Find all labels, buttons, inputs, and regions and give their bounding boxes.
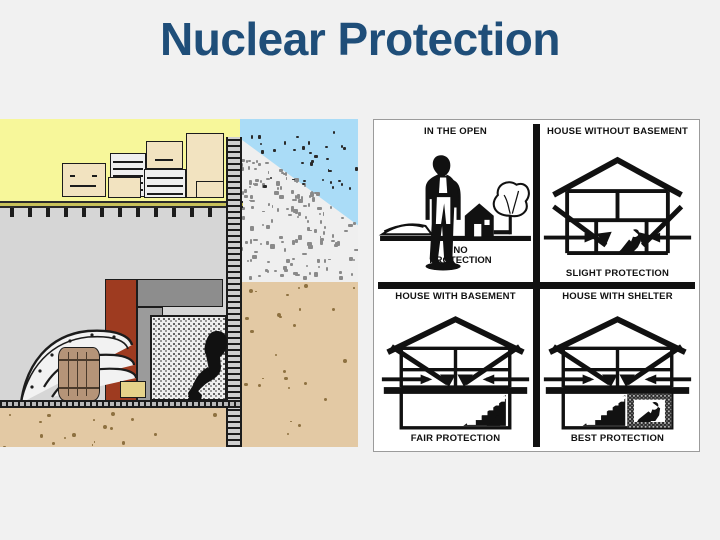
fallout-particle — [284, 141, 286, 145]
fallout-particle — [328, 170, 331, 172]
floor-joist — [208, 208, 212, 217]
gravel-speck — [295, 212, 299, 214]
gravel-speck — [267, 261, 270, 263]
gravel-speck — [320, 240, 322, 244]
gravel-speck — [253, 239, 257, 241]
floor-joist — [28, 208, 32, 217]
gravel-speck — [250, 195, 253, 199]
gravel-speck — [242, 216, 246, 220]
gravel-speck — [286, 259, 290, 263]
gravel-speck — [341, 217, 344, 219]
soil-speck — [299, 308, 301, 310]
cabinet-detail-line — [70, 175, 75, 177]
soil-speck — [332, 308, 335, 311]
gravel-speck — [339, 276, 343, 280]
fallout-particle — [343, 147, 346, 150]
gravel-speck — [291, 190, 294, 194]
gravel-speck — [254, 251, 258, 253]
gravel-speck — [314, 272, 318, 276]
panel-divider-vertical-bottom — [533, 289, 540, 447]
soil-speck — [39, 421, 41, 423]
floor-joist — [118, 208, 122, 217]
cabinet-detail-line — [70, 185, 96, 187]
gravel-speck — [244, 195, 248, 198]
gravel-speck — [281, 241, 284, 243]
soil-speck — [279, 316, 282, 319]
fallout-particle — [273, 149, 275, 152]
gravel-speck — [309, 272, 311, 275]
gravel-speck — [348, 224, 352, 228]
quadrant-caption: BEST PROTECTION — [540, 434, 695, 444]
fallout-particle — [251, 135, 253, 139]
fallout-particle — [310, 162, 313, 166]
soil-speck — [324, 398, 327, 401]
gravel-speck — [284, 248, 286, 252]
soil-speck — [304, 284, 308, 288]
quadrant-artwork — [540, 302, 695, 447]
floor-joist — [82, 208, 86, 217]
fallout-particle — [263, 185, 267, 188]
soil-speck — [154, 433, 157, 436]
no-protection-line2: PROTECTION — [429, 255, 491, 266]
gravel-speck — [274, 270, 278, 272]
fallout-particle — [332, 186, 334, 189]
soil-speck — [9, 414, 11, 416]
gravel-speck — [265, 269, 268, 272]
gravel-speck — [277, 208, 279, 211]
ground-floor-slab — [0, 201, 243, 208]
supply-stack-line — [113, 161, 143, 163]
quadrant-artwork: NO PROTECTION — [378, 137, 533, 282]
soil-speck — [103, 425, 107, 429]
gravel-speck — [266, 241, 269, 245]
gravel-speck — [276, 181, 280, 185]
gravel-speck — [295, 239, 297, 243]
fallout-particle — [302, 146, 305, 150]
soil-speck — [293, 324, 296, 327]
gravel-speck — [244, 189, 247, 193]
gravel-speck — [317, 207, 322, 211]
gravel-speck — [266, 225, 271, 229]
gravel-speck — [354, 249, 358, 251]
gravel-speck — [283, 173, 287, 175]
floor-joist — [136, 208, 140, 217]
quadrant-house-with-shelter: HOUSE WITH SHELTER — [540, 289, 695, 447]
fallout-particle — [326, 158, 328, 160]
gravel-speck — [274, 191, 279, 195]
soil-speck — [3, 446, 6, 447]
furniture-low-box — [196, 181, 224, 198]
gravel-speck — [252, 255, 256, 259]
gravel-speck — [332, 234, 334, 238]
crate-line — [147, 177, 183, 179]
gravel-speck — [339, 271, 342, 274]
soil-speck — [213, 413, 217, 417]
gravel-speck — [258, 163, 261, 166]
gravel-speck — [290, 263, 293, 266]
cabinet-detail-line — [92, 175, 97, 177]
crate-line — [147, 185, 183, 187]
gravel-speck — [311, 191, 313, 193]
gravel-speck — [302, 253, 306, 255]
quadrant-house-with-basement: HOUSE WITH BASEMENT — [378, 289, 533, 447]
gravel-speck — [331, 240, 335, 242]
supply-stack-line — [113, 168, 143, 170]
appliance-detail-line — [155, 159, 173, 161]
protection-levels-diagram: IN THE OPEN — [373, 119, 700, 452]
fallout-particle — [325, 146, 329, 148]
gravel-speck — [277, 187, 279, 190]
floor-joist — [64, 208, 68, 217]
gravel-speck — [320, 220, 322, 224]
gravel-speck — [344, 230, 348, 232]
gravel-speck — [303, 205, 305, 207]
earth-subsoil-right — [240, 279, 358, 447]
floor-joist — [100, 208, 104, 217]
earth-subsoil-below — [0, 407, 240, 447]
soil-speck — [304, 382, 307, 385]
gravel-speck — [265, 162, 269, 164]
fallout-particle — [349, 187, 351, 189]
furniture-table — [108, 177, 141, 198]
fallout-particle — [258, 135, 261, 139]
gravel-speck — [297, 194, 300, 198]
earth-mound — [238, 137, 358, 282]
gravel-speck — [320, 238, 325, 241]
floor-joist — [172, 208, 176, 217]
fallout-particle — [270, 177, 272, 179]
quadrant-title: HOUSE WITH BASEMENT — [395, 292, 515, 302]
quadrant-house-without-basement: HOUSE WITHOUT BASEMENT — [540, 124, 695, 282]
basement-floor-slab — [0, 400, 242, 408]
fallout-particle — [338, 180, 341, 182]
gravel-speck — [351, 273, 353, 276]
floor-joist — [154, 208, 158, 217]
fallout-particle — [314, 155, 317, 158]
gravel-speck — [292, 258, 295, 260]
soil-speck — [283, 370, 286, 373]
gravel-speck — [307, 242, 312, 246]
gravel-speck — [280, 274, 284, 277]
gravel-speck — [260, 180, 262, 183]
gravel-speck — [328, 259, 332, 261]
gravel-speck — [254, 183, 257, 187]
gravel-speck — [260, 243, 262, 246]
gravel-speck — [280, 186, 282, 190]
gravel-speck — [249, 276, 252, 280]
crate-line — [147, 193, 183, 195]
soil-speck — [93, 419, 95, 421]
gravel-speck — [279, 195, 284, 198]
gravel-speck — [250, 226, 255, 230]
gravel-speck — [294, 199, 297, 201]
gravel-speck — [251, 206, 254, 208]
fallout-particle — [261, 150, 264, 154]
gravel-speck — [295, 274, 300, 276]
fallout-particle — [341, 145, 344, 147]
quadrant-in-the-open: IN THE OPEN — [378, 124, 533, 282]
panel-divider-vertical-top — [533, 124, 540, 282]
water-storage-barrel — [58, 347, 100, 401]
gravel-speck — [249, 182, 252, 185]
gravel-speck — [324, 259, 327, 262]
furniture-cabinet-left — [62, 163, 106, 197]
gravel-speck — [318, 266, 320, 268]
fallout-particle — [303, 180, 306, 182]
soil-speck — [72, 433, 76, 437]
gravel-speck — [305, 216, 307, 219]
soil-speck — [52, 442, 55, 445]
gravel-speck — [298, 235, 302, 239]
floor-joist — [46, 208, 50, 217]
basement-shelter-illustration — [0, 119, 358, 447]
gravel-speck — [294, 178, 299, 182]
quadrant-caption: FAIR PROTECTION — [378, 434, 533, 444]
supply-box — [120, 381, 146, 398]
gravel-speck — [312, 197, 315, 201]
quadrant-title: HOUSE WITH SHELTER — [562, 292, 673, 302]
furniture-appliance — [146, 141, 183, 169]
gravel-speck — [271, 219, 273, 223]
gravel-speck — [270, 244, 275, 248]
person-in-shelter — [187, 327, 235, 403]
gravel-speck — [250, 239, 252, 243]
floor-joist — [10, 208, 14, 217]
page-title: Nuclear Protection — [0, 14, 720, 65]
gravel-speck — [255, 179, 259, 183]
soil-speck — [249, 289, 253, 293]
soil-speck — [353, 287, 355, 289]
gravel-speck — [279, 236, 282, 240]
gravel-speck — [314, 229, 316, 233]
floor-joist — [190, 208, 194, 217]
gravel-speck — [286, 177, 288, 180]
gravel-speck — [303, 276, 307, 280]
quadrant-artwork — [540, 137, 695, 282]
concrete-block-upper — [137, 279, 223, 307]
quadrant-title: IN THE OPEN — [424, 127, 487, 137]
gravel-speck — [353, 222, 356, 225]
fallout-particle — [308, 141, 310, 145]
gravel-speck — [326, 267, 328, 271]
quadrant-title: HOUSE WITHOUT BASEMENT — [547, 127, 688, 137]
fallout-particle — [355, 167, 358, 171]
gravel-speck — [298, 199, 303, 203]
soil-speck — [255, 291, 257, 293]
gravel-speck — [286, 208, 289, 210]
panel-divider-horizontal — [378, 282, 695, 289]
soil-speck — [92, 444, 93, 445]
gravel-speck — [298, 212, 301, 216]
quadrant-artwork — [378, 302, 533, 447]
quadrant-caption: SLIGHT PROTECTION — [540, 269, 695, 279]
